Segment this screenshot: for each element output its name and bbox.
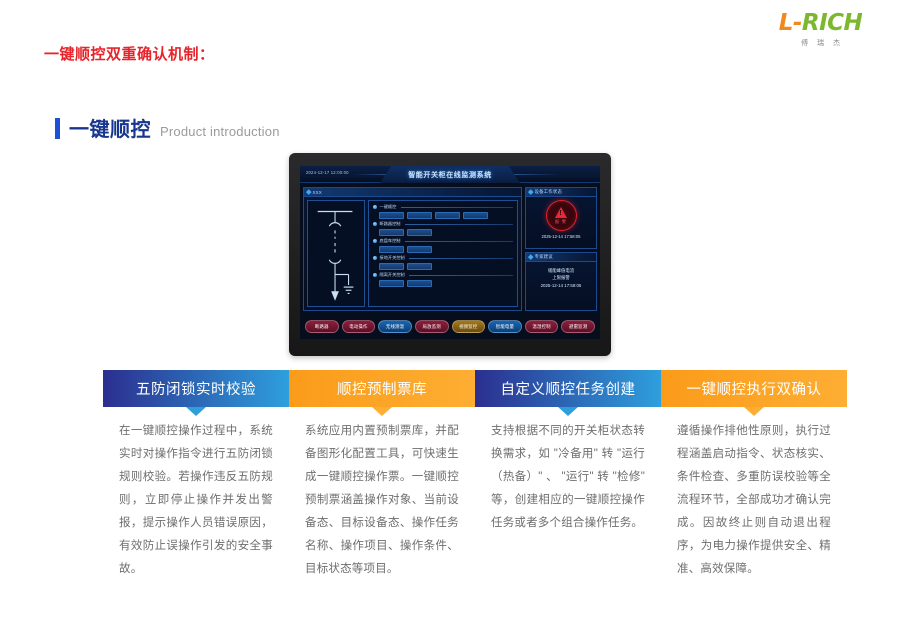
status-panel-header: 设备工作状态 (526, 188, 596, 197)
title-accent-bar (55, 118, 60, 139)
slide-page: L-RICH 傅瑞杰 一键顺控双重确认机制： 一键顺控 Product intr… (0, 0, 900, 636)
control-button[interactable] (379, 212, 404, 220)
advice-line-2: 上限报警 (528, 274, 594, 281)
brand-subtitle: 傅瑞杰 (763, 38, 878, 48)
diamond-icon (528, 255, 533, 260)
control-button[interactable] (379, 280, 404, 288)
divider (409, 258, 513, 259)
control-group-label: 底盘车控制 (373, 238, 513, 244)
advice-panel-header: 专家建议 (526, 253, 596, 262)
device-monitor: 2024-12-17 12:00:00 智能开关柜在线监测系统 XXX (289, 153, 611, 356)
control-group-label-text: 底盘车控制 (380, 238, 401, 244)
control-group-label-text: 隔离开关控制 (380, 272, 405, 278)
divider (409, 275, 513, 276)
feature-tabs: 五防闭锁实时校验顺控预制票库自定义顺控任务创建一键顺控执行双确认 (103, 370, 847, 407)
advice-line-1: 储能峰值电流 (528, 267, 594, 274)
screen-nav-button[interactable]: 视频监控 (452, 320, 486, 333)
feature-description-text: 系统应用内置预制票库，并配备图形化配置工具，可快速生成一键顺控操作票。一键顺控预… (305, 420, 459, 581)
control-button[interactable] (379, 263, 404, 271)
status-panel-header-label: 设备工作状态 (535, 189, 563, 195)
brand-word-right: RICH (802, 10, 862, 36)
bullet-icon (373, 256, 377, 260)
section-title: 一键顺控 Product introduction (55, 113, 280, 142)
header-deco-line-right (508, 174, 560, 175)
expert-advice-panel: 专家建议 储能峰值电流 上限报警 2025-12-14 17:58:05 (525, 252, 597, 311)
control-button[interactable] (463, 212, 488, 220)
circuit-diagram-icon (308, 201, 364, 306)
control-button[interactable] (407, 280, 432, 288)
feature-description-text: 支持根据不同的开关柜状态转换需求，如 "冷备用" 转 "运行（热备）" 、 "运… (491, 420, 645, 535)
control-group-label: 隔离开关控制 (373, 272, 513, 278)
feature-description-text: 在一键顺控操作过程中，系统实时对操作指令进行五防闭锁规则校验。若操作违反五防规则… (119, 420, 273, 581)
advice-panel-body: 储能峰值电流 上限报警 2025-12-14 17:58:05 (526, 262, 596, 294)
control-button[interactable] (407, 246, 432, 254)
status-timestamp: 2025-12-14 17:58:05 (542, 234, 581, 239)
diamond-icon (306, 190, 311, 195)
control-group-label-text: 一键顺控 (380, 204, 397, 210)
control-button[interactable] (379, 229, 404, 237)
control-button-row (373, 246, 513, 254)
bullet-icon (373, 239, 377, 243)
bullet-icon (373, 205, 377, 209)
screen-nav-button[interactable]: 温湿控制 (525, 320, 559, 333)
control-group: 断路器控制 (373, 221, 513, 236)
divider (405, 224, 513, 225)
single-line-diagram (307, 200, 365, 307)
section-title-cn: 一键顺控 (69, 113, 151, 142)
advice-panel-header-label: 专家建议 (535, 254, 553, 260)
screen-body: XXX (300, 184, 600, 314)
divider (401, 207, 513, 208)
screen-nav-button[interactable]: 断路器 (305, 320, 339, 333)
advice-line-3: 2025-12-14 17:58:05 (528, 282, 594, 289)
control-group-label: 一键顺控 (373, 204, 513, 210)
screen-nav-button[interactable]: 电动操作 (342, 320, 376, 333)
control-group: 底盘车控制 (373, 238, 513, 253)
screen-nav-button[interactable]: 无线测温 (378, 320, 412, 333)
control-group-label: 接地开关控制 (373, 255, 513, 261)
warning-triangle-icon (555, 207, 567, 218)
screen-header: 2024-12-17 12:00:00 智能开关柜在线监测系统 (300, 166, 600, 183)
feature-description-column-1: 在一键顺控操作过程中，系统实时对操作指令进行五防闭锁规则校验。若操作违反五防规则… (103, 420, 289, 581)
feature-description-column-3: 支持根据不同的开关柜状态转换需求，如 "冷备用" 转 "运行（热备）" 、 "运… (475, 420, 661, 581)
screen-nav-button[interactable]: 智能电量 (488, 320, 522, 333)
section-title-en: Product introduction (160, 124, 280, 139)
control-button-row (373, 212, 513, 220)
feature-tab-1[interactable]: 五防闭锁实时校验 (103, 370, 289, 407)
feature-tab-2[interactable]: 顺控预制票库 (289, 370, 475, 407)
control-button[interactable] (435, 212, 460, 220)
control-group: 一键顺控 (373, 204, 513, 219)
feature-tab-4[interactable]: 一键顺控执行双确认 (661, 370, 847, 407)
control-button-row (373, 280, 513, 288)
control-group: 隔离开关控制 (373, 272, 513, 287)
screen-timestamp: 2024-12-17 12:00:00 (306, 170, 349, 175)
divider (405, 241, 513, 242)
screen-title: 智能开关柜在线监测系统 (408, 170, 492, 180)
control-button[interactable] (379, 246, 404, 254)
control-button[interactable] (407, 263, 432, 271)
left-panel-inner: 一键顺控断路器控制底盘车控制接地开关控制隔离开关控制 (304, 197, 521, 310)
brand-word-left: L- (779, 10, 802, 36)
control-group: 接地开关控制 (373, 255, 513, 270)
control-group-label-text: 接地开关控制 (380, 255, 405, 261)
control-button-row (373, 229, 513, 237)
alarm-indicator: 报 警 (546, 200, 577, 231)
page-heading: 一键顺控双重确认机制： (44, 43, 215, 64)
right-panel-column: 设备工作状态 报 警 2025-12-14 17:58:05 (525, 187, 597, 311)
control-group-label-text: 断路器控制 (380, 221, 401, 227)
brand-wordmark: L-RICH (763, 12, 878, 35)
control-button[interactable] (407, 229, 432, 237)
device-screen: 2024-12-17 12:00:00 智能开关柜在线监测系统 XXX (300, 166, 600, 339)
control-list: 一键顺控断路器控制底盘车控制接地开关控制隔离开关控制 (368, 200, 518, 307)
alarm-label: 报 警 (555, 219, 567, 225)
screen-nav-button[interactable]: 避雷监测 (561, 320, 595, 333)
diamond-icon (528, 190, 533, 195)
bullet-icon (373, 273, 377, 277)
control-button-row (373, 263, 513, 271)
status-panel-body: 报 警 2025-12-14 17:58:05 (526, 197, 596, 239)
feature-description-column-2: 系统应用内置预制票库，并配备图形化配置工具，可快速生成一键顺控操作票。一键顺控预… (289, 420, 475, 581)
control-group-label: 断路器控制 (373, 221, 513, 227)
device-status-panel: 设备工作状态 报 警 2025-12-14 17:58:05 (525, 187, 597, 249)
feature-description-text: 遵循操作排他性原则，执行过程涵盖启动指令、状态核实、条件检查、多重防误校验等全流… (677, 420, 831, 581)
left-panel-header: XXX (304, 188, 521, 197)
screen-nav-bar: 断路器电动操作无线测温局放监测视频监控智能电量温湿控制避雷监测 (303, 317, 597, 336)
left-panel-header-label: XXX (313, 190, 322, 195)
bullet-icon (373, 222, 377, 226)
feature-descriptions: 在一键顺控操作过程中，系统实时对操作指令进行五防闭锁规则校验。若操作违反五防规则… (103, 420, 847, 581)
screen-nav-button[interactable]: 局放监测 (415, 320, 449, 333)
feature-tab-3[interactable]: 自定义顺控任务创建 (475, 370, 661, 407)
brand-logo: L-RICH 傅瑞杰 (763, 12, 878, 48)
left-control-panel: XXX (303, 187, 522, 311)
control-button[interactable] (407, 212, 432, 220)
feature-description-column-4: 遵循操作排他性原则，执行过程涵盖启动指令、状态核实、条件检查、多重防误校验等全流… (661, 420, 847, 581)
